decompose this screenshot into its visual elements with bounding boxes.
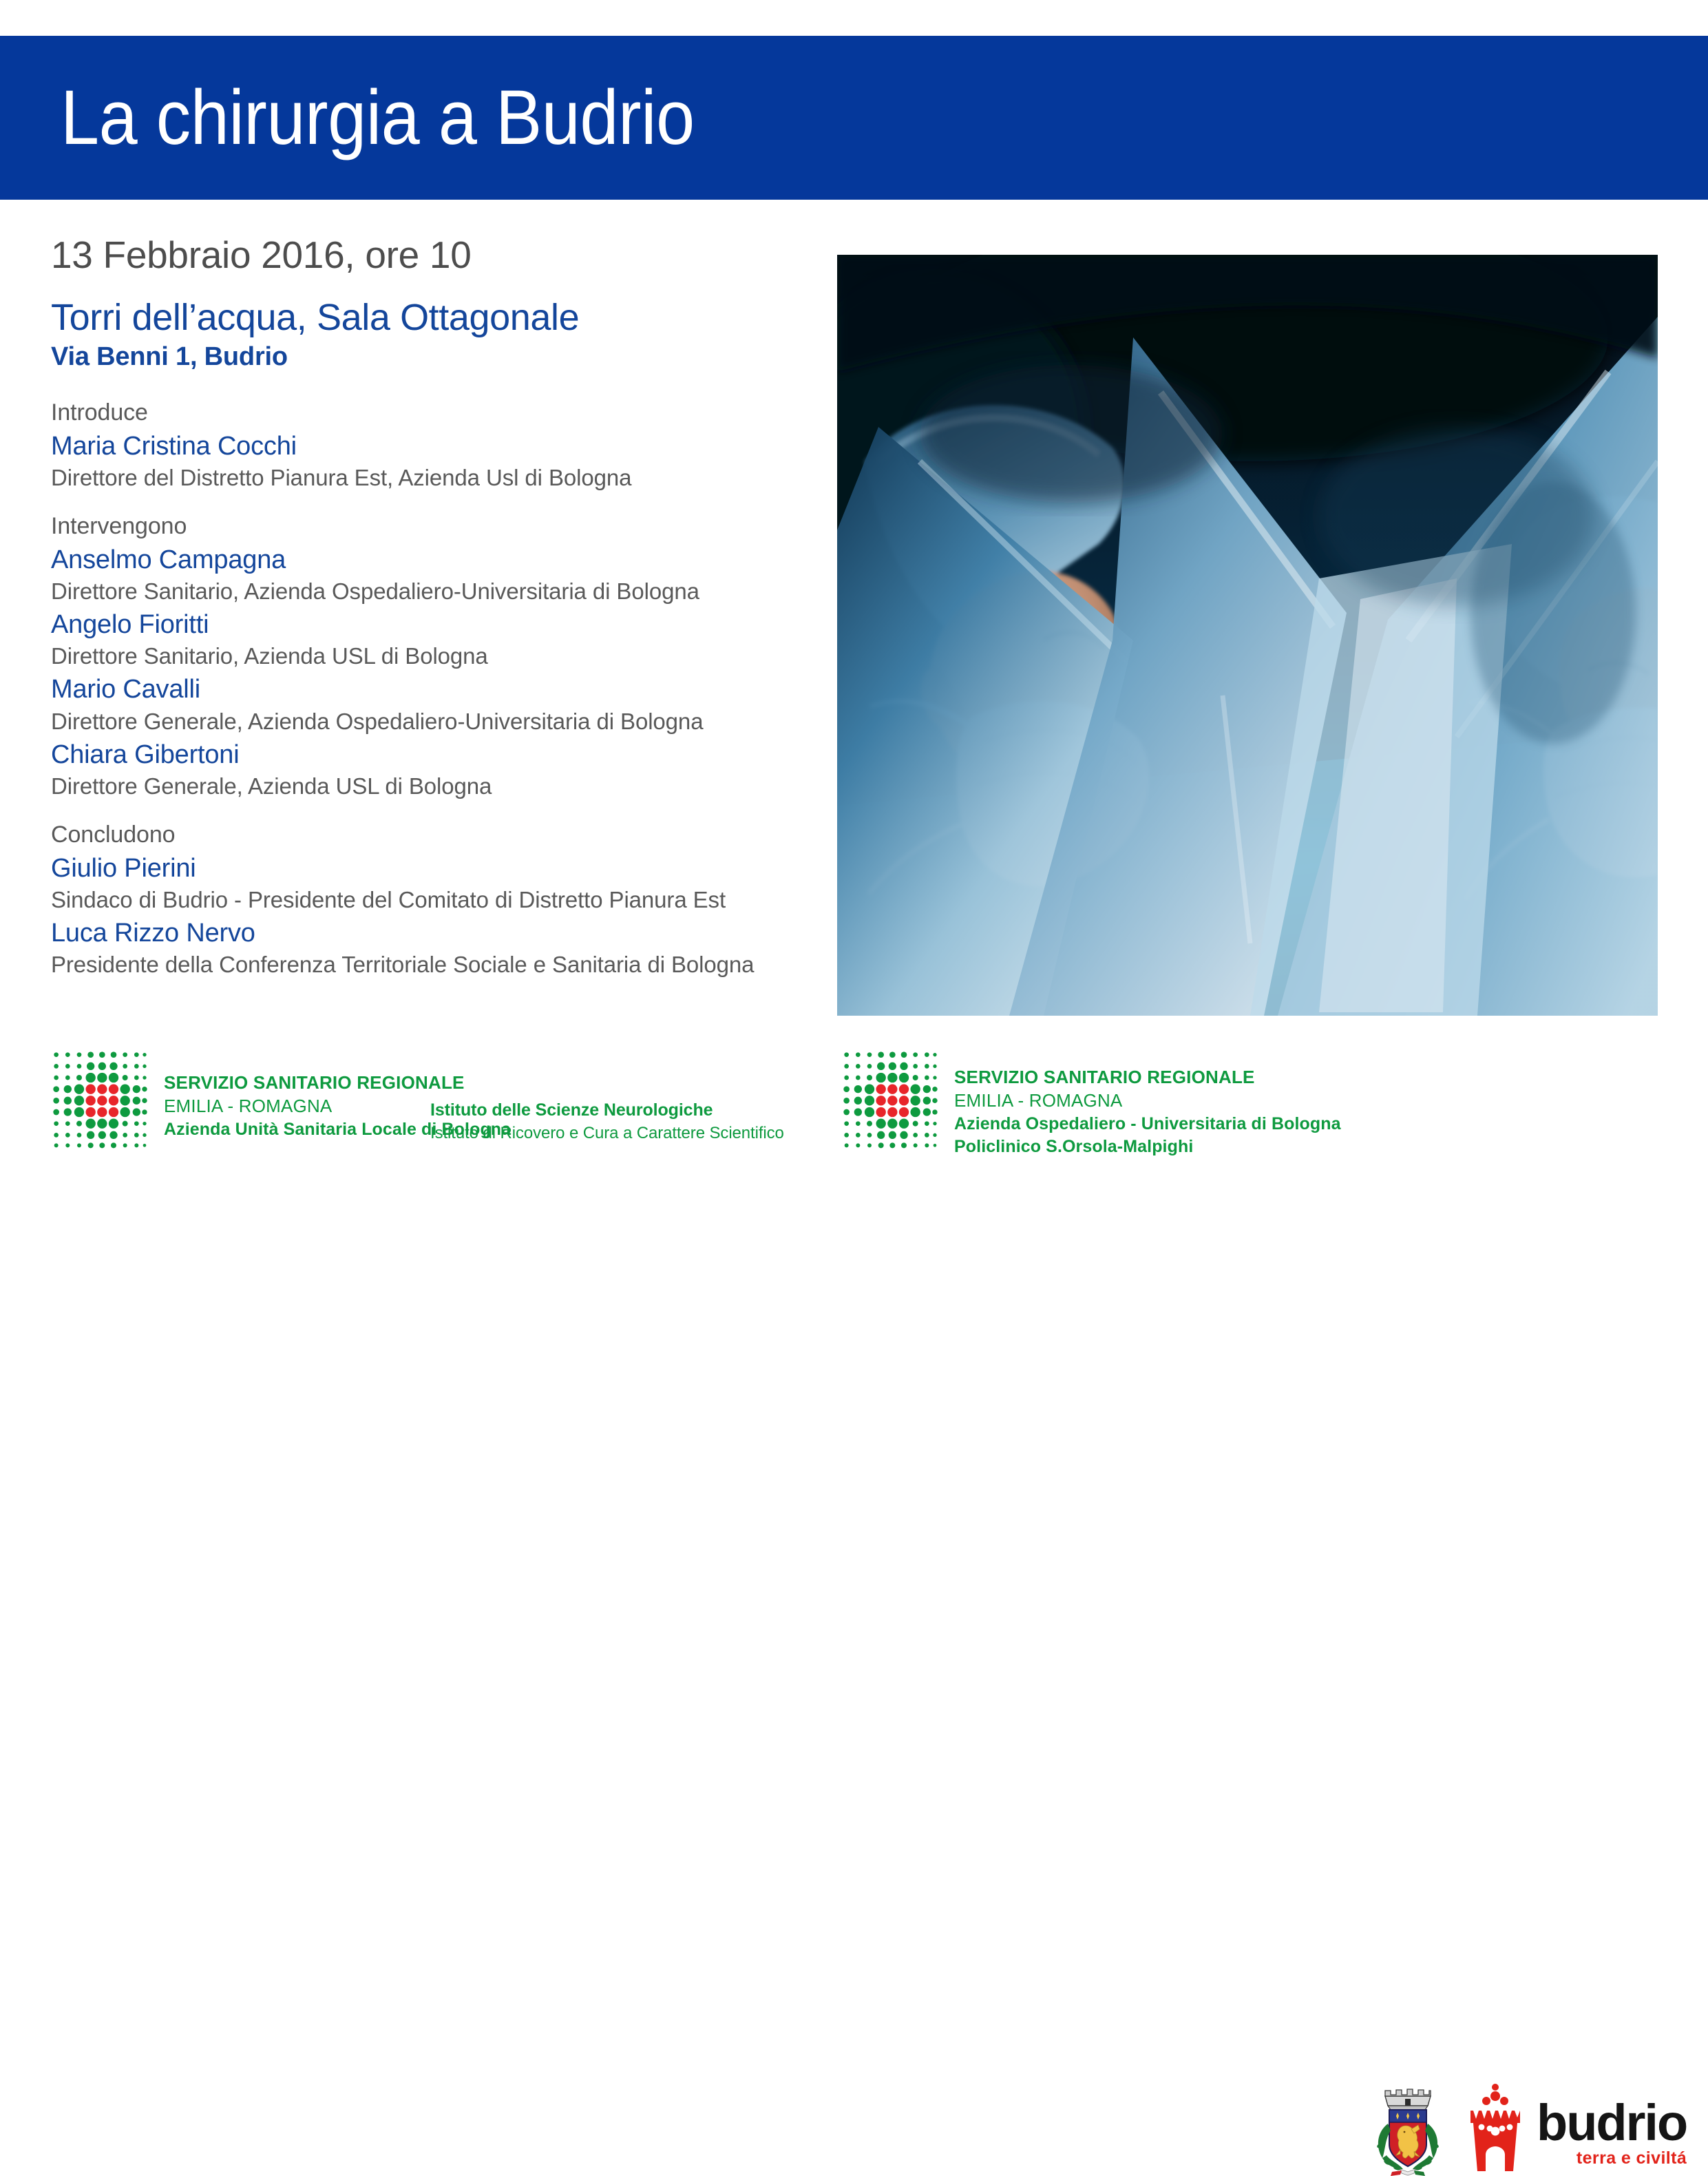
program-role-label: Concludono	[51, 819, 815, 850]
program-person: Giulio Pierini Sindaco di Budrio - Presi…	[51, 852, 815, 915]
budrio-wordmark: budrio terra e civiltá	[1537, 2100, 1687, 2168]
program-person: Anselmo Campagna Direttore Sanitario, Az…	[51, 543, 815, 607]
person-affiliation: Direttore Generale, Azienda Ospedaliero-…	[51, 707, 815, 737]
logo-budrio: budrio terra e civiltá	[1370, 2078, 1687, 2176]
budrio-tower-icon	[1464, 2083, 1527, 2171]
title-banner: La chirurgia a Budrio	[0, 36, 1708, 200]
person-name: Chiara Gibertoni	[51, 738, 815, 772]
program-role-label: Introduce	[51, 397, 815, 428]
person-affiliation: Direttore Sanitario, Azienda USL di Bolo…	[51, 642, 815, 671]
person-name: Anselmo Campagna	[51, 543, 815, 577]
page-title-text: La chirurgia a Budrio	[61, 77, 695, 158]
isn-line-2: Istituto di Ricovero e Cura a Carattere …	[430, 1122, 784, 1144]
person-name: Angelo Fioritti	[51, 608, 815, 642]
program-group-intervengono: Intervengono Anselmo Campagna Direttore …	[51, 511, 815, 802]
ssr-line-1: SERVIZIO SANITARIO REGIONALE	[164, 1071, 511, 1095]
person-name: Giulio Pierini	[51, 852, 815, 886]
budrio-coat-of-arms-icon	[1370, 2078, 1446, 2176]
page-title: La chirurgia a Budrio	[61, 77, 765, 158]
budrio-name: budrio	[1537, 2100, 1687, 2146]
person-name: Mario Cavalli	[51, 673, 815, 707]
logo-aosp-bologna: SERVIZIO SANITARIO REGIONALE EMILIA - RO…	[839, 1047, 1341, 1158]
logo-istituto-scienze-neurologiche: Istituto delle Scienze Neurologiche Isti…	[430, 1099, 784, 1144]
person-affiliation: Presidente della Conferenza Territoriale…	[51, 950, 815, 980]
event-address: Via Benni 1, Budrio	[51, 342, 815, 373]
person-affiliation: Direttore del Distretto Pianura Est, Azi…	[51, 463, 815, 493]
ssr-line-1: SERVIZIO SANITARIO REGIONALE	[954, 1066, 1341, 1089]
program-role-label: Intervengono	[51, 511, 815, 542]
program-person: Angelo Fioritti Direttore Sanitario, Azi…	[51, 608, 815, 671]
person-affiliation: Direttore Generale, Azienda USL di Bolog…	[51, 772, 815, 802]
program-person: Maria Cristina Cocchi Direttore del Dist…	[51, 430, 815, 493]
surgery-photo	[837, 255, 1658, 1016]
program-group-concludono: Concludono Giulio Pierini Sindaco di Bud…	[51, 819, 815, 980]
surgery-photo-image	[837, 255, 1658, 1016]
ssr-line-4: Policlinico S.Orsola-Malpighi	[954, 1136, 1341, 1158]
event-venue: Torri dell’acqua, Sala Ottagonale	[51, 297, 815, 338]
ssr-line-3: Azienda Ospedaliero - Universitaria di B…	[954, 1113, 1341, 1136]
program-person: Mario Cavalli Direttore Generale, Aziend…	[51, 673, 815, 736]
footer-logos: SERVIZIO SANITARIO REGIONALE EMILIA - RO…	[0, 1033, 1708, 1171]
ssr-line-2: EMILIA - ROMAGNA	[954, 1089, 1341, 1113]
ssr-dotgrid-icon	[48, 1047, 151, 1150]
event-details-column: 13 Febbraio 2016, ore 10 Torri dell’acqu…	[51, 234, 815, 998]
poster-root: La chirurgia a Budrio 13 Febbraio 2016, …	[0, 0, 1708, 1208]
program-group-introduce: Introduce Maria Cristina Cocchi Direttor…	[51, 397, 815, 493]
isn-line-1: Istituto delle Scienze Neurologiche	[430, 1099, 784, 1122]
logo-aosp-text: SERVIZIO SANITARIO REGIONALE EMILIA - RO…	[954, 1047, 1341, 1158]
person-name: Luca Rizzo Nervo	[51, 917, 815, 950]
program-person: Luca Rizzo Nervo Presidente della Confer…	[51, 917, 815, 980]
person-affiliation: Direttore Sanitario, Azienda Ospedaliero…	[51, 577, 815, 607]
ssr-dotgrid-icon	[839, 1047, 942, 1150]
budrio-tagline: terra e civiltá	[1537, 2148, 1687, 2168]
person-name: Maria Cristina Cocchi	[51, 430, 815, 463]
person-affiliation: Sindaco di Budrio - Presidente del Comit…	[51, 886, 815, 915]
event-date: 13 Febbraio 2016, ore 10	[51, 234, 815, 276]
program-person: Chiara Gibertoni Direttore Generale, Azi…	[51, 738, 815, 802]
